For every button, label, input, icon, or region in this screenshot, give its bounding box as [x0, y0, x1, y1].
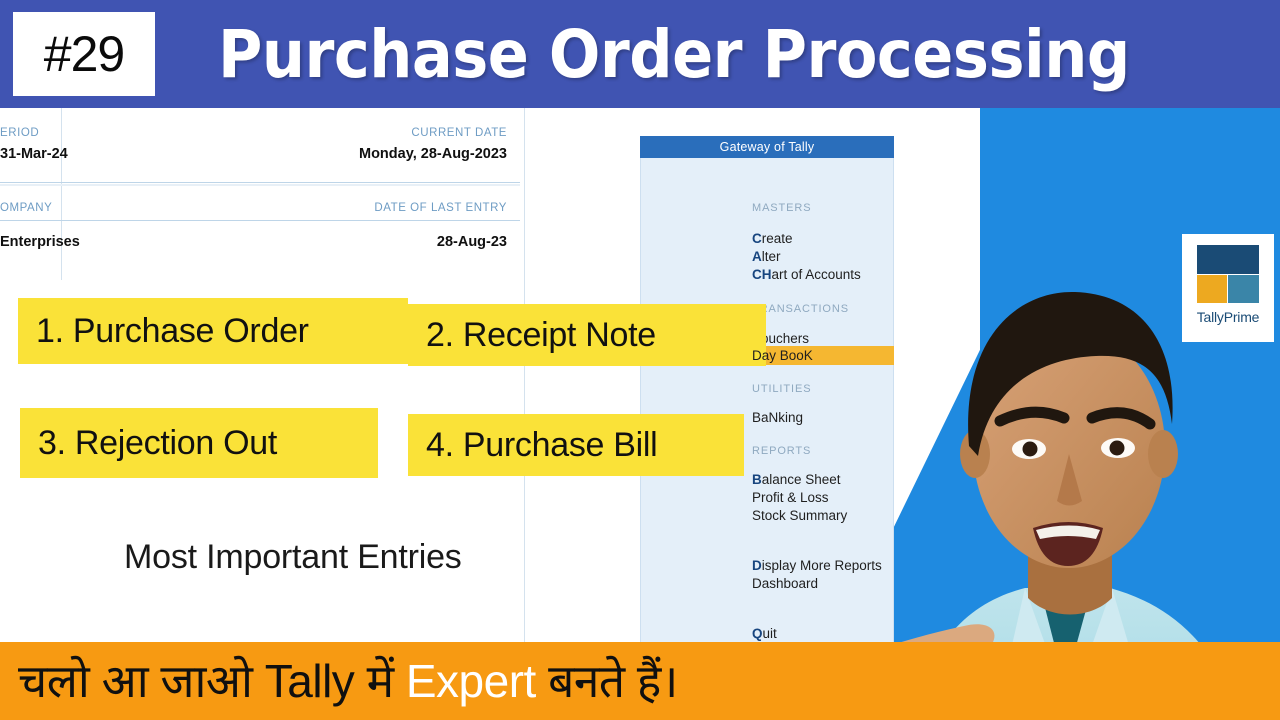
last-entry-value: 28-Aug-23 [437, 234, 507, 250]
callout-box-purchase-order: 1. Purchase Order [18, 298, 408, 364]
caption-part-1: चलो आ जाओ Tally में [18, 655, 406, 707]
current-date-label: CURRENT DATE [411, 127, 507, 139]
logo-square-bottom-left [1197, 275, 1227, 303]
current-date-value: Monday, 28-Aug-2023 [359, 146, 507, 162]
gateway-item-balance-rest: alance Sheet [762, 472, 841, 487]
gateway-item-day-book[interactable]: Day BooK [752, 348, 813, 363]
tallyprime-logo-mark [1197, 245, 1259, 303]
gateway-item-chart-rest: art of Accounts [772, 267, 861, 282]
bottom-caption-text: चलो आ जाओ Tally में Expert बनते हैं। [18, 658, 678, 704]
gateway-item-display-hotkey: D [752, 558, 762, 573]
caption-highlight-expert: Expert [406, 655, 536, 707]
company-value: Enterprises [0, 234, 80, 250]
gateway-section-reports: REPORTS [752, 445, 811, 457]
episode-number-badge: #29 [13, 12, 155, 96]
callout-box-rejection-out: 3. Rejection Out [20, 408, 378, 478]
callout-box-receipt-note: 2. Receipt Note [408, 304, 766, 366]
company-label: OMPANY [0, 202, 52, 214]
title-banner: #29 Purchase Order Processing [0, 0, 1280, 108]
episode-number-text: #29 [44, 29, 124, 79]
gateway-item-create-rest: reate [762, 231, 793, 246]
tallyprime-logo: TallyPrime [1182, 234, 1274, 342]
gateway-item-alter-hotkey: A [752, 249, 762, 264]
divider-1b [0, 184, 520, 186]
gateway-of-tally-title: Gateway of Tally [640, 136, 894, 158]
gateway-item-dashboard[interactable]: Dashboard [752, 576, 818, 591]
panel-inner-divider [61, 108, 62, 280]
gateway-item-banking[interactable]: BaNking [752, 410, 803, 425]
gateway-of-tally-panel [640, 136, 894, 682]
gateway-item-chart-hotkey: CH [752, 267, 772, 282]
gateway-item-quit[interactable]: Quit [752, 626, 777, 641]
gateway-section-transactions: TRANSACTIONS [752, 303, 849, 315]
gateway-section-utilities: UTILITIES [752, 383, 811, 395]
content-area: ERIOD 31-Mar-24 CURRENT DATE Monday, 28-… [0, 108, 1280, 720]
bottom-caption-banner: चलो आ जाओ Tally में Expert बनते हैं। [0, 642, 1280, 720]
gateway-item-chart-of-accounts[interactable]: CHart of Accounts [752, 267, 861, 282]
page-title: Purchase Order Processing [218, 6, 1238, 102]
gateway-item-balance-hotkey: B [752, 472, 762, 487]
most-important-entries-subtitle: Most Important Entries [124, 538, 462, 577]
callout-box-purchase-bill: 4. Purchase Bill [408, 414, 744, 476]
gateway-item-vouchers-rest: ouchers [761, 331, 809, 346]
gateway-item-balance-sheet[interactable]: Balance Sheet [752, 472, 841, 487]
gateway-item-quit-hotkey: Q [752, 626, 763, 641]
period-label: ERIOD [0, 127, 39, 139]
divider-1 [0, 182, 520, 183]
gateway-item-create-label: C [752, 231, 762, 246]
divider-2 [0, 220, 520, 221]
gateway-item-profit-and-loss[interactable]: Profit & Loss [752, 490, 829, 505]
gateway-item-quit-rest: uit [763, 626, 777, 641]
tallyprime-logo-text: TallyPrime [1197, 309, 1260, 325]
gateway-section-masters: MASTERS [752, 202, 811, 214]
gateway-item-stock-summary[interactable]: Stock Summary [752, 508, 847, 523]
logo-square-top [1197, 245, 1259, 274]
gateway-item-alter-rest: lter [762, 249, 781, 264]
gateway-item-alter[interactable]: Alter [752, 249, 781, 264]
last-entry-label: DATE OF LAST ENTRY [374, 202, 507, 214]
caption-part-2: बनते हैं। [536, 655, 678, 707]
thumbnail-canvas: ERIOD 31-Mar-24 CURRENT DATE Monday, 28-… [0, 0, 1280, 720]
gateway-item-create[interactable]: Create [752, 231, 793, 246]
period-value: 31-Mar-24 [0, 146, 68, 162]
logo-square-bottom-right [1228, 275, 1259, 303]
